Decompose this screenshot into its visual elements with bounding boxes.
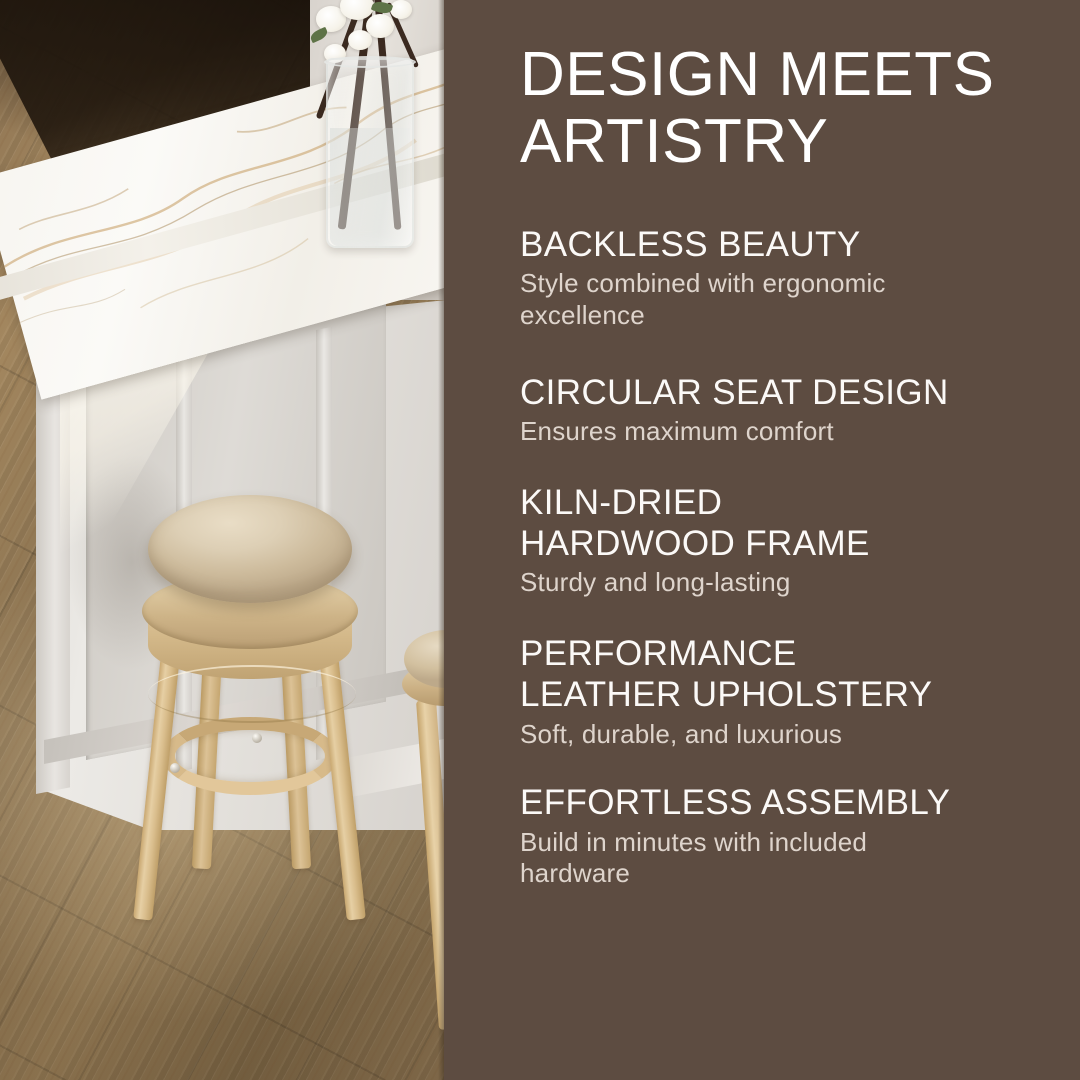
feature-text-panel: DESIGN MEETS ARTISTRY BACKLESS BEAUTY St… (444, 0, 1080, 1080)
feature-item-kiln-dried-hardwood-frame: KILN-DRIED HARDWOOD FRAME Sturdy and lon… (520, 482, 1046, 599)
stool-leather-seat (148, 495, 352, 603)
feature-subtitle: Soft, durable, and luxurious (520, 719, 1046, 751)
cherry-blossom (348, 30, 372, 50)
feature-subtitle: Sturdy and long-lasting (520, 567, 1046, 599)
feature-title: BACKLESS BEAUTY (520, 224, 1046, 265)
feature-subtitle: Style combined with ergonomic excellence (520, 268, 1046, 331)
cherry-blossom (390, 0, 412, 19)
backless-bar-stool (140, 495, 360, 925)
vase-water (330, 128, 410, 246)
product-photo-panel (0, 0, 444, 1080)
product-feature-poster: DESIGN MEETS ARTISTRY BACKLESS BEAUTY St… (0, 0, 1080, 1080)
vase-rim (324, 56, 416, 68)
feature-list: BACKLESS BEAUTY Style combined with ergo… (520, 224, 1046, 890)
stool-trim-groove (148, 665, 356, 723)
feature-title: EFFORTLESS ASSEMBLY (520, 782, 1046, 823)
stool-screw (170, 763, 180, 773)
feature-subtitle: Build in minutes with included hardware (520, 827, 1046, 890)
feature-title: CIRCULAR SEAT DESIGN (520, 372, 1046, 413)
feature-title: PERFORMANCE LEATHER UPHOLSTERY (520, 633, 1046, 716)
feature-item-performance-leather-upholstery: PERFORMANCE LEATHER UPHOLSTERY Soft, dur… (520, 633, 1046, 750)
feature-item-backless-beauty: BACKLESS BEAUTY Style combined with ergo… (520, 224, 1046, 332)
feature-subtitle: Ensures maximum comfort (520, 416, 1046, 448)
page-title: DESIGN MEETS ARTISTRY (520, 0, 1046, 176)
feature-item-effortless-assembly: EFFORTLESS ASSEMBLY Build in minutes wit… (520, 782, 1046, 890)
feature-title: KILN-DRIED HARDWOOD FRAME (520, 482, 1046, 565)
stool-footrest-ring (162, 717, 338, 795)
stool-screw (252, 733, 262, 743)
feature-item-circular-seat-design: CIRCULAR SEAT DESIGN Ensures maximum com… (520, 372, 1046, 448)
